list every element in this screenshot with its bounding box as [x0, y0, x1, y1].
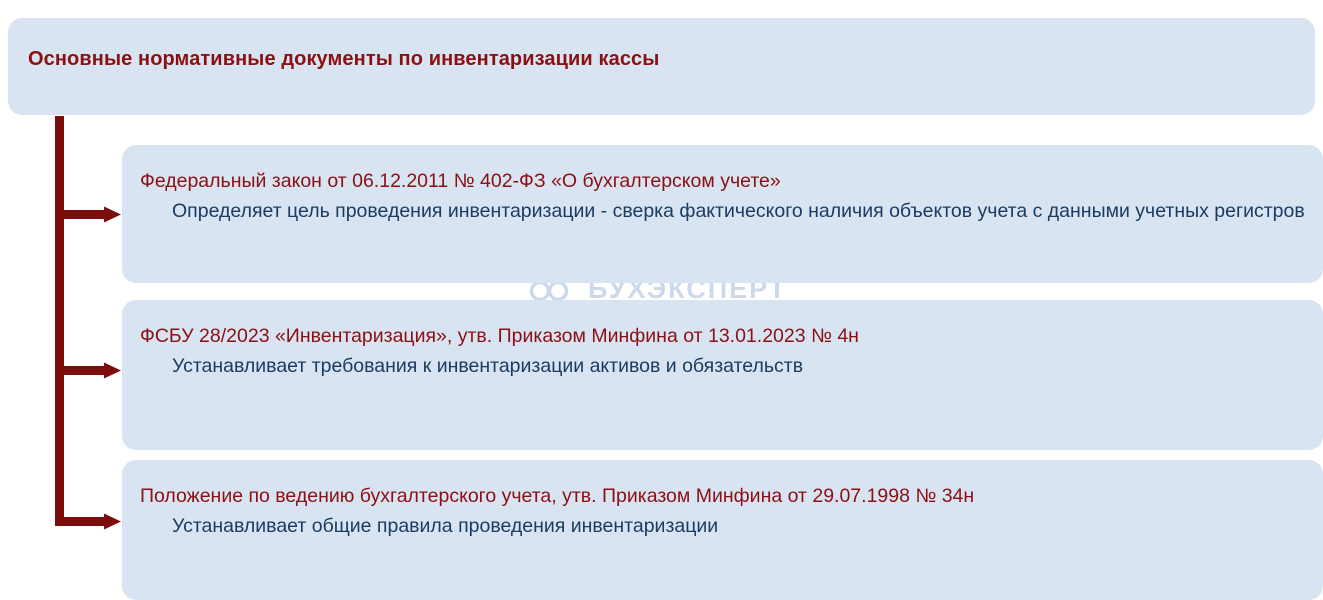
- page-title: Основные нормативные документы по инвент…: [28, 48, 659, 71]
- header-box: Основные нормативные документы по инвент…: [8, 18, 1315, 115]
- document-title: ФСБУ 28/2023 «Инвентаризация», утв. Прик…: [140, 322, 1307, 350]
- document-description: Устанавливает общие правила проведения и…: [140, 512, 1307, 540]
- document-block: Положение по ведению бухгалтерского учет…: [122, 460, 1323, 600]
- connector-arrow-3: [55, 514, 121, 530]
- document-title: Федеральный закон от 06.12.2011 № 402-ФЗ…: [140, 167, 1307, 195]
- connector-arrow-2: [55, 363, 121, 379]
- connector-arrow-1: [55, 207, 121, 223]
- document-block: Федеральный закон от 06.12.2011 № 402-ФЗ…: [122, 145, 1323, 283]
- normative-documents-diagram: БУХЭКСПЕРТ Основные нормативные документ…: [0, 0, 1323, 600]
- document-description: Устанавливает требования к инвентаризаци…: [140, 352, 1307, 380]
- document-description: Определяет цель проведения инвентаризаци…: [140, 197, 1307, 225]
- document-title: Положение по ведению бухгалтерского учет…: [140, 482, 1307, 510]
- connector-trunk: [55, 116, 64, 526]
- document-block: ФСБУ 28/2023 «Инвентаризация», утв. Прик…: [122, 300, 1323, 450]
